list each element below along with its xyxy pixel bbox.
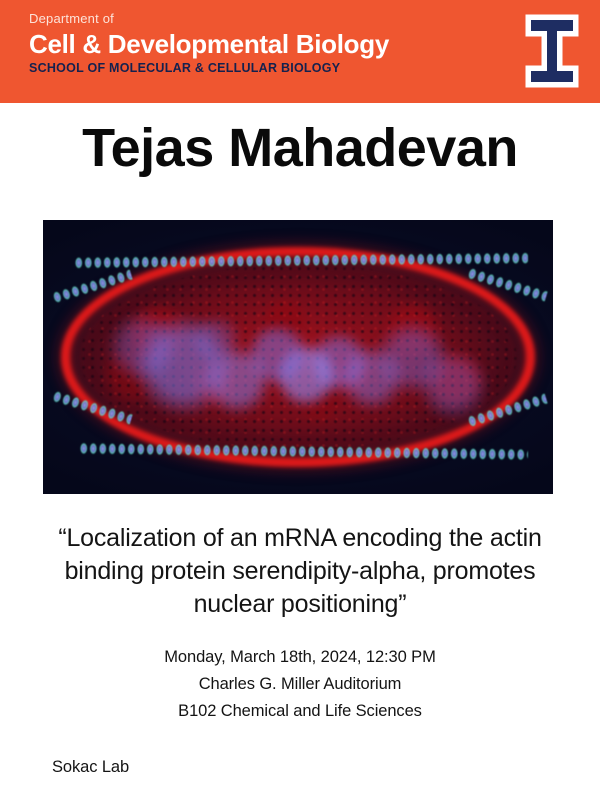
event-details: Monday, March 18th, 2024, 12:30 PM Charl… <box>50 644 550 725</box>
department-eyebrow: Department of <box>29 11 389 27</box>
talk-title: “Localization of an mRNA encoding the ac… <box>30 522 570 621</box>
department-header-banner: Department of Cell & Developmental Biolo… <box>0 0 600 103</box>
block-i-icon <box>521 13 583 89</box>
drosophila-embryo-micrograph <box>43 220 553 494</box>
header-text-block: Department of Cell & Developmental Biolo… <box>29 11 389 76</box>
department-title: Cell & Developmental Biology <box>29 29 389 59</box>
illinois-block-i-logo <box>521 13 583 89</box>
lab-credit: Sokac Lab <box>52 758 129 777</box>
speaker-name: Tejas Mahadevan <box>0 115 600 181</box>
micrograph-nuclear-puncta-layer <box>94 302 502 428</box>
school-subtitle: SCHOOL OF MOLECULAR & CELLULAR BIOLOGY <box>29 61 389 76</box>
event-venue: Charles G. Miller Auditorium <box>50 671 550 698</box>
event-room: B102 Chemical and Life Sciences <box>50 698 550 725</box>
event-datetime: Monday, March 18th, 2024, 12:30 PM <box>50 644 550 671</box>
